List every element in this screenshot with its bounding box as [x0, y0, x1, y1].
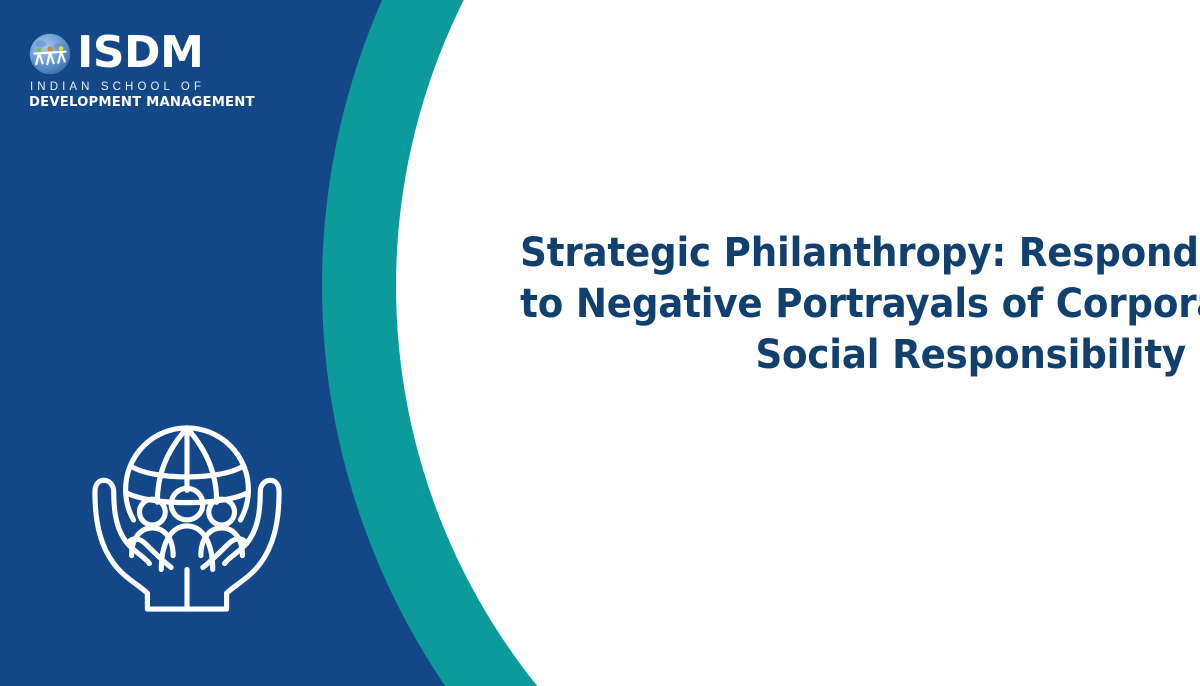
- logo-wordmark: ISDM: [77, 31, 203, 75]
- logo-tagline-line1: INDIAN SCHOOL OF: [30, 81, 222, 93]
- logo-dot-yellow: [59, 46, 64, 51]
- logo-tagline-line2: DEVELOPMENT MANAGEMENT: [29, 95, 222, 110]
- banner-slide: ISDM INDIAN SCHOOL OF DEVELOPMENT MANAGE…: [0, 0, 1200, 686]
- logo-dot-orange: [48, 47, 53, 52]
- title-line-3: Social Responsibility: [520, 330, 1186, 381]
- title-line-1: Strategic Philanthropy: Responding: [520, 228, 1186, 279]
- hands-holding-globe-with-people-icon: [88, 416, 286, 616]
- title-line-2: to Negative Portrayals of Corporate: [520, 279, 1186, 330]
- logo-dot-green: [37, 47, 42, 52]
- isdm-logo[interactable]: ISDM INDIAN SCHOOL OF DEVELOPMENT MANAGE…: [27, 28, 222, 112]
- page-title: Strategic Philanthropy: Responding to Ne…: [470, 228, 1186, 381]
- globe-people-icon: [27, 31, 73, 77]
- logo-primary-row: ISDM: [27, 28, 222, 78]
